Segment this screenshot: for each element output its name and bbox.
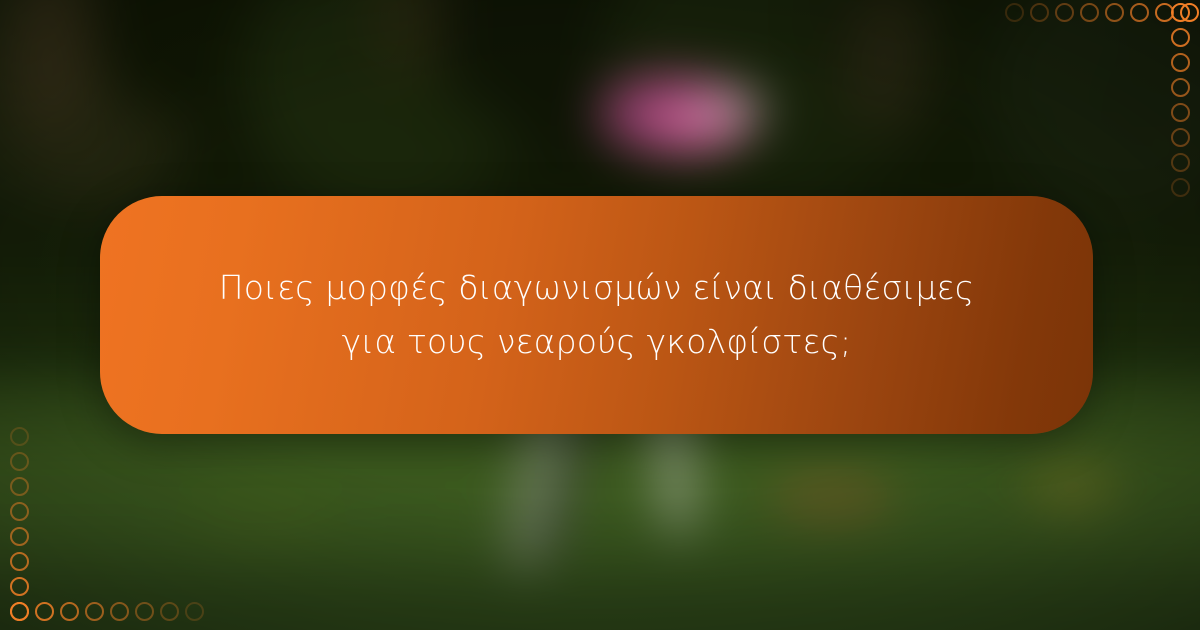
decorative-circle	[1055, 3, 1074, 22]
ground-blob	[1024, 463, 1119, 511]
decorative-circle	[10, 477, 29, 496]
decorative-circle	[1080, 3, 1099, 22]
question-text: Ποιες μορφές διαγωνισμών είναι διαθέσιμε…	[170, 261, 1023, 370]
decorative-circle	[1171, 28, 1190, 47]
decorative-circle	[10, 602, 29, 621]
decorative-circle	[1171, 103, 1190, 122]
decorative-circle	[10, 552, 29, 571]
decorative-circle	[1105, 3, 1124, 22]
decorative-circle	[10, 427, 29, 446]
decorative-circle	[1030, 3, 1049, 22]
decorative-circle	[85, 602, 104, 621]
quote-card-canvas: Ποιες μορφές διαγωνισμών είναι διαθέσιμε…	[0, 0, 1200, 630]
question-line-2: για τους νεαρούς γκολφίστες;	[342, 322, 852, 361]
tree-trunk-blob	[377, 0, 441, 77]
decorative-circle	[1171, 53, 1190, 72]
decorative-circle	[35, 602, 54, 621]
decorative-circle	[1171, 178, 1190, 197]
decorative-circle	[10, 527, 29, 546]
decorative-circle	[1171, 78, 1190, 97]
decorative-circle	[1005, 3, 1024, 22]
decorative-circle	[60, 602, 79, 621]
decorative-circle	[135, 602, 154, 621]
ground-blob	[187, 490, 335, 543]
decorative-circle	[110, 602, 129, 621]
decorative-circle	[1171, 153, 1190, 172]
decorative-circle	[185, 602, 204, 621]
question-line-1: Ποιες μορφές διαγωνισμών είναι διαθέσιμε…	[219, 268, 975, 307]
decorative-circle	[160, 602, 179, 621]
decorative-circle	[10, 577, 29, 596]
decorative-circle	[1130, 3, 1149, 22]
tree-trunk-blob	[17, 0, 91, 129]
decorative-circle	[1171, 3, 1190, 22]
ground-blob	[770, 474, 897, 522]
golfer-highlight	[695, 87, 769, 129]
decorative-circle	[1171, 128, 1190, 147]
decorative-circle	[10, 452, 29, 471]
decorative-circle	[10, 502, 29, 521]
tree-trunk-blob	[844, 0, 929, 130]
question-card: Ποιες μορφές διαγωνισμών είναι διαθέσιμε…	[100, 196, 1093, 434]
